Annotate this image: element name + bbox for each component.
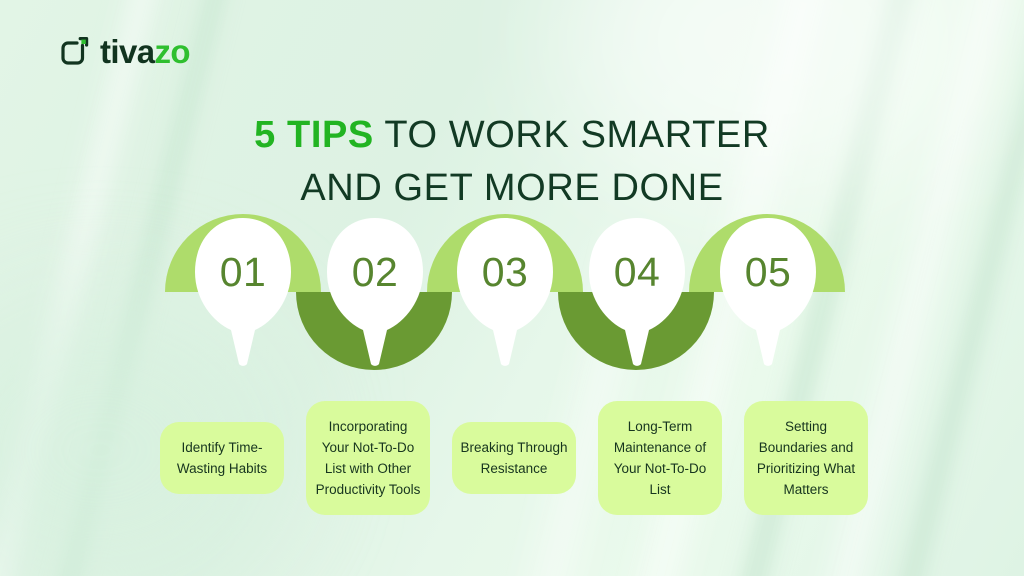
brand-name-part2: zo xyxy=(154,33,189,70)
step-pin-01[interactable]: 01 xyxy=(191,214,295,366)
step-number-01: 01 xyxy=(191,214,295,330)
step-label-03[interactable]: Breaking Through Resistance xyxy=(452,422,576,494)
step-pin-02[interactable]: 02 xyxy=(323,214,427,366)
step-number-03: 03 xyxy=(453,214,557,330)
brand-logo[interactable]: tivazo xyxy=(57,34,190,68)
title-line2: AND GET MORE DONE xyxy=(300,167,723,209)
step-label-01[interactable]: Identify Time-Wasting Habits xyxy=(160,422,284,494)
step-label-05[interactable]: Setting Boundaries and Prioritizing What… xyxy=(744,401,868,515)
step-labels: Identify Time-Wasting Habits Incorporati… xyxy=(160,368,868,548)
title-accent: 5 TIPS xyxy=(254,114,374,156)
infographic-canvas: tivazo 5 TIPS TO WORK SMARTERAND GET MOR… xyxy=(0,0,1024,576)
step-label-04[interactable]: Long-Term Maintenance of Your Not-To-Do … xyxy=(598,401,722,515)
step-pin-05[interactable]: 05 xyxy=(716,214,820,366)
title-rest: TO WORK SMARTER xyxy=(374,114,770,156)
tivazo-bracket-icon xyxy=(57,34,91,68)
step-number-02: 02 xyxy=(323,214,427,330)
step-pins: 01 02 03 04 xyxy=(0,214,1024,374)
brand-name-part1: tiva xyxy=(100,33,154,70)
step-number-04: 04 xyxy=(585,214,689,330)
brand-name: tivazo xyxy=(100,35,190,68)
page-title: 5 TIPS TO WORK SMARTERAND GET MORE DONE xyxy=(0,109,1024,214)
step-label-02[interactable]: Incorporating Your Not-To-Do List with O… xyxy=(306,401,430,515)
step-pin-03[interactable]: 03 xyxy=(453,214,557,366)
step-pin-04[interactable]: 04 xyxy=(585,214,689,366)
step-number-05: 05 xyxy=(716,214,820,330)
